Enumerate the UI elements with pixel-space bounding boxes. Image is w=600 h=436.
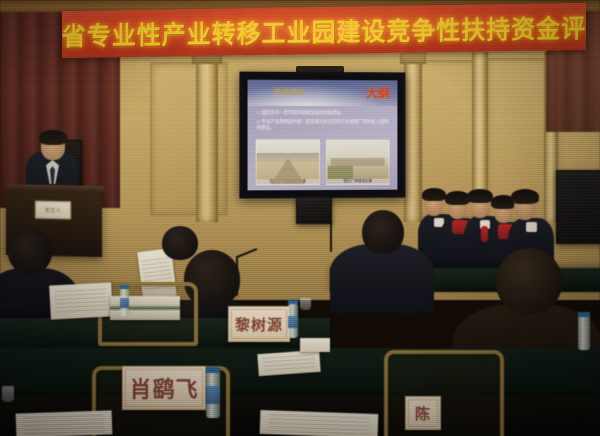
attendee-head [362, 210, 404, 254]
document-text-lines [269, 415, 369, 435]
document-on-table [49, 282, 113, 319]
highway-photo: 园区主干道路建设实景 [256, 139, 320, 185]
name-placard-text: 陈 [415, 403, 431, 424]
industrial-photo: 园区厂房建设实景 [326, 139, 390, 185]
water-bottle-cap [578, 312, 590, 317]
water-bottle-label [120, 298, 129, 308]
wall-pilaster-capital [400, 52, 426, 64]
document-on-table [260, 410, 379, 436]
document-text-lines [54, 289, 107, 315]
event-banner-text: 广东省专业性产业转移工业园建设竞争性扶持资金评审会 [62, 8, 586, 54]
name-placard: 黎树源 [228, 306, 290, 342]
slide-bullet-list: ◇ 园区区内一定年限内基础设施及配套建设； ◇ 专业产业转移园中建一定区域污水分… [257, 111, 391, 135]
banquet-chair [384, 350, 504, 436]
water-bottle-cap [288, 300, 298, 304]
water-bottle-label [288, 316, 298, 328]
attendee-shoulders [330, 244, 434, 314]
slide-header: 规划建设 大纲 [248, 80, 398, 107]
podium-top-edge [8, 184, 104, 193]
loudspeaker-grille [560, 174, 600, 240]
av-equipment-grille [300, 200, 328, 220]
name-placard: 肖鹞飞 [122, 366, 206, 410]
highway-photo-caption: 园区主干道路建设实景 [257, 179, 319, 184]
slide-header-title: 规划建设 [274, 87, 306, 97]
water-bottle-label [206, 386, 220, 404]
attendee-head [162, 226, 198, 260]
panel-member-hair [511, 189, 539, 204]
attendee-head [8, 228, 52, 274]
slide-bullet-item: ◇ 园区区内一定年限内基础设施及配套建设； [257, 111, 391, 117]
panel-member-necktie [481, 226, 488, 242]
name-placard-text: 黎树源 [235, 314, 283, 335]
document-on-table [257, 350, 320, 376]
panel-member-hair [467, 189, 493, 203]
document-text-lines [23, 415, 104, 434]
microphone-stand [330, 222, 332, 252]
slide-header-logo: 大纲 [366, 84, 390, 101]
attendee-head [496, 248, 562, 314]
industrial-photo-caption: 园区厂房建设实景 [327, 179, 389, 184]
presentation-slide: 规划建设 大纲 ◇ 园区区内一定年限内基础设施及配套建设； ◇ 专业产业转移园中… [248, 80, 398, 191]
document-text-lines [263, 354, 316, 373]
projector-screen: 规划建设 大纲 ◇ 园区区内一定年限内基础设施及配套建设； ◇ 专业产业转移园中… [239, 72, 405, 199]
drinking-glass [300, 298, 311, 310]
panel-member-collar [526, 222, 537, 232]
wall-pilaster [404, 52, 422, 222]
water-bottle [578, 316, 590, 350]
slide-bullet-item: ◇ 专业产业转移园中建一定区域污水分区和污水处理厂同时投入使用的建设。 [257, 120, 391, 133]
podium-name-card: 发言人 [35, 201, 71, 220]
av-equipment-box [296, 196, 332, 224]
panel-member-hair [422, 188, 446, 201]
conference-photo: 广东省专业性产业转移工业园建设竞争性扶持资金评审会 规划建设 大纲 ◇ 园区区内… [0, 0, 600, 436]
loudspeaker-box [556, 170, 600, 244]
slide-photo-row: 园区主干道路建设实景 园区厂房建设实景 [256, 139, 390, 185]
wall-pilaster [196, 52, 218, 222]
document-on-table [300, 338, 330, 352]
name-placard: 陈 [405, 396, 441, 430]
name-placard-text: 肖鹞飞 [129, 372, 198, 404]
drinking-glass [2, 386, 14, 402]
water-bottle-cap [120, 285, 129, 289]
event-banner: 广东省专业性产业转移工业园建设竞争性扶持资金评审会 [62, 3, 586, 58]
speaker-hair [39, 130, 67, 145]
document-on-table [16, 410, 113, 436]
water-bottle-cap [206, 367, 220, 373]
